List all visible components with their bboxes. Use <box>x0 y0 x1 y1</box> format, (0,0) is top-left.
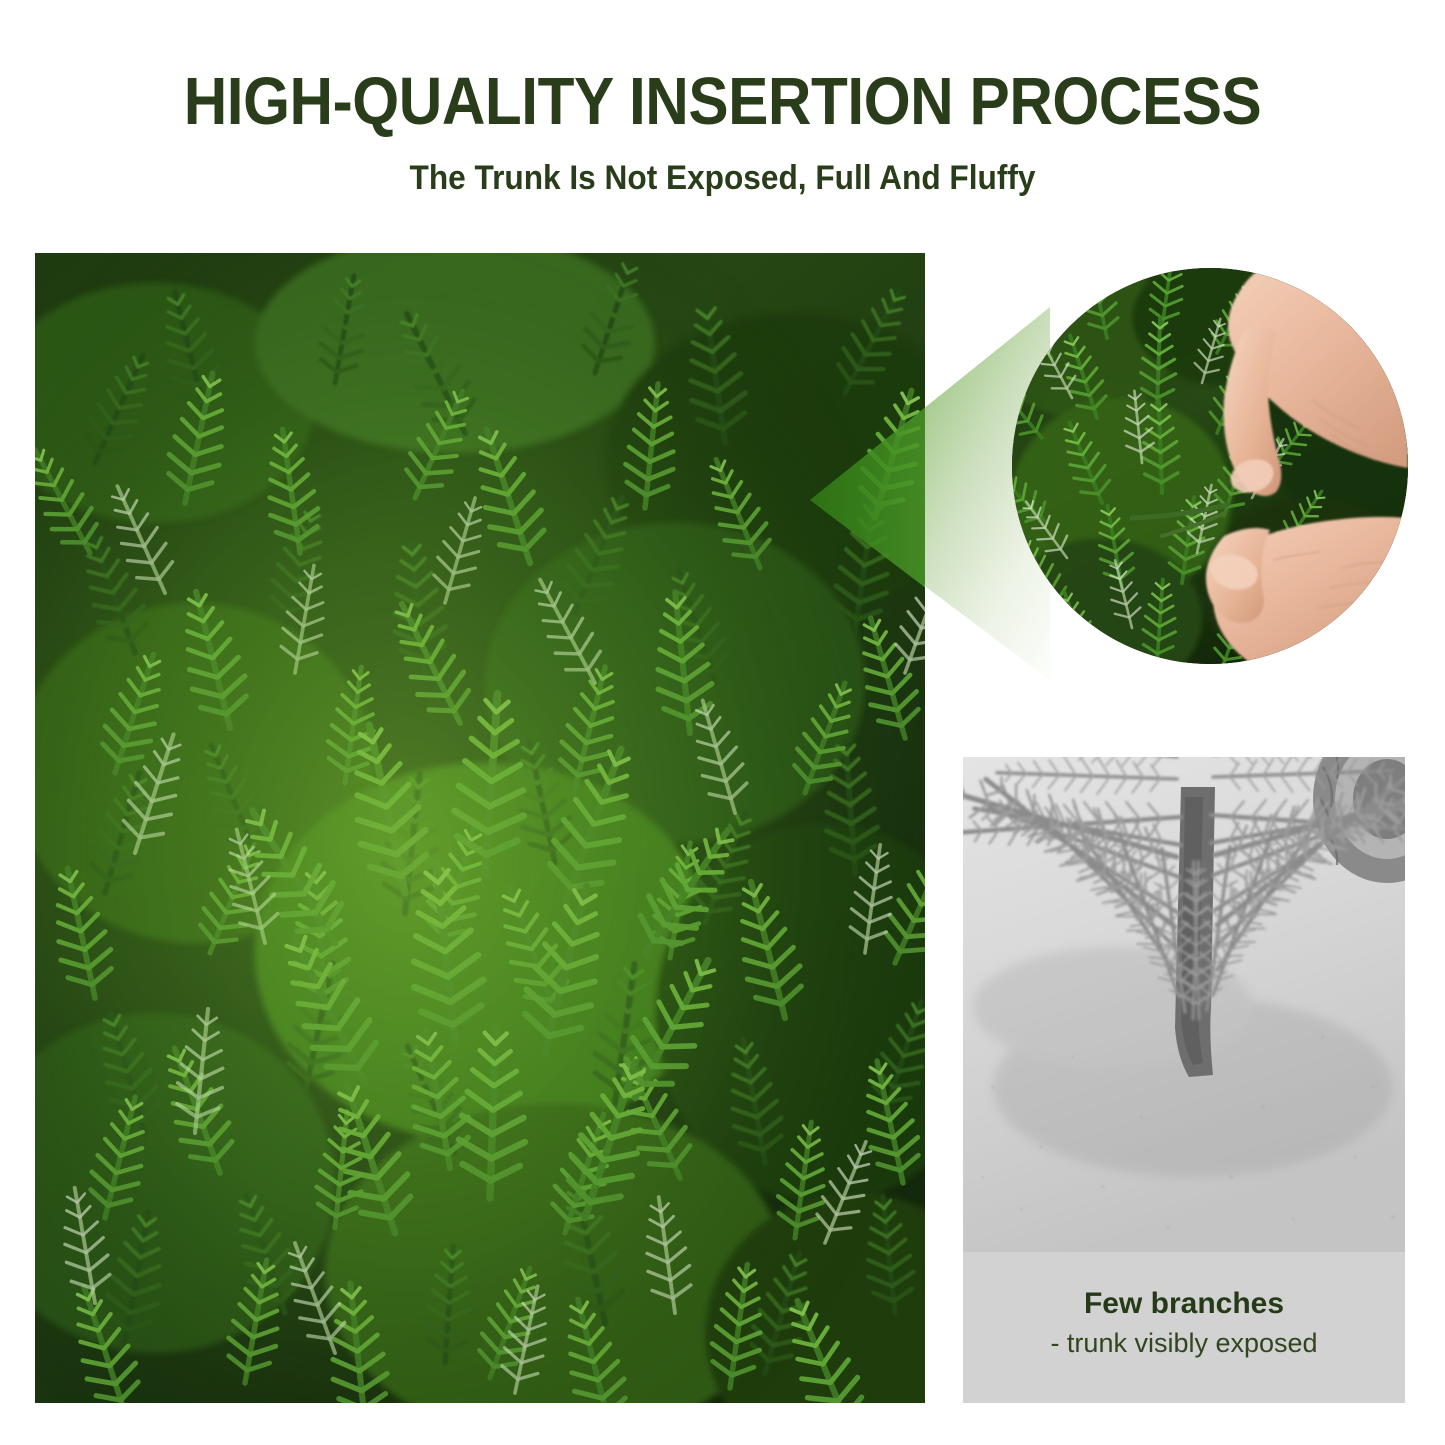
sparse-tree-grayscale-photo <box>963 757 1405 1252</box>
sparse-tree-texture <box>963 757 1405 1252</box>
comparison-block: Few branches - trunk visibly exposed <box>963 757 1405 1403</box>
magnified-detail-circle <box>1012 268 1408 664</box>
caption-title: Few branches <box>963 1288 1405 1320</box>
comparison-caption-panel: Few branches - trunk visibly exposed <box>963 1252 1405 1403</box>
caption-subtitle: - trunk visibly exposed <box>963 1320 1405 1357</box>
product-feature-image: HIGH-QUALITY INSERTION PROCESS The Trunk… <box>0 0 1445 1445</box>
header: HIGH-QUALITY INSERTION PROCESS The Trunk… <box>0 0 1445 195</box>
hand-holding-branch-detail <box>1012 268 1408 664</box>
hero-foliage-photo <box>35 253 925 1403</box>
page-title: HIGH-QUALITY INSERTION PROCESS <box>72 0 1373 135</box>
page-subtitle: The Trunk Is Not Exposed, Full And Fluff… <box>51 135 1395 195</box>
foliage-texture <box>35 253 925 1403</box>
